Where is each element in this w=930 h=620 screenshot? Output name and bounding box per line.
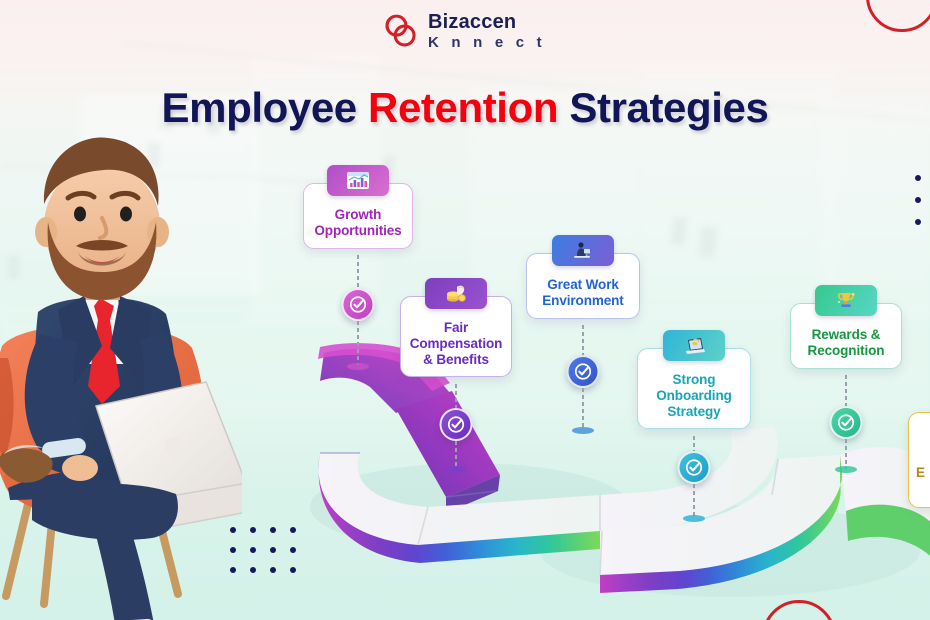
step-card-rewards[interactable]: Rewards & Recognition (790, 303, 902, 369)
check-circle-icon (447, 415, 466, 434)
step-stem-onboarding-lower (693, 484, 695, 518)
step-base-compensation (445, 466, 467, 473)
brand-name-secondary: K n n e c t (428, 35, 546, 50)
title-highlight: Retention (368, 84, 558, 131)
step-label-environment: Great Work Environment (535, 277, 631, 309)
check-circle-icon (837, 413, 856, 432)
step-stem-rewards-lower (845, 439, 847, 469)
step-stem-growth (357, 255, 359, 289)
check-circle-icon (349, 295, 368, 314)
laptop-handshake-icon (663, 330, 725, 361)
title-part-2: Strategies (558, 84, 768, 131)
roadmap-step-growth[interactable]: Growth Opportunities (303, 183, 413, 249)
step-base-growth (347, 363, 369, 370)
roadmap-step-rewards[interactable]: Rewards & Recognition (790, 303, 902, 369)
decor-dot-grid-right (915, 175, 930, 225)
step-stem-rewards (845, 375, 847, 407)
businessman-with-laptop-illustration (0, 96, 242, 620)
step-label-onboarding: Strong Onboarding Strategy (646, 372, 742, 419)
person-at-desk-icon (552, 235, 614, 266)
step-card-onboarding[interactable]: Strong Onboarding Strategy (637, 348, 751, 429)
step-check-rewards[interactable] (830, 406, 863, 439)
roadmap-step-onboarding[interactable]: Strong Onboarding Strategy (637, 348, 751, 429)
step-label-rewards: Rewards & Recognition (799, 327, 893, 359)
roadmap-step-compensation[interactable]: Fair Compensation & Benefits (400, 296, 512, 377)
step-label-compensation: Fair Compensation & Benefits (409, 320, 503, 367)
infographic-canvas: Bizaccen K n n e c t Employee Retention … (0, 0, 930, 620)
step-stem-environment (582, 325, 584, 357)
step-base-onboarding (683, 515, 705, 522)
step-stem-compensation (455, 384, 457, 410)
roadmap-step-environment[interactable]: Great Work Environment (526, 253, 640, 319)
roadmap-step-partial[interactable]: E (908, 412, 930, 508)
bar-chart-dashboard-icon (327, 165, 389, 196)
check-circle-icon (685, 458, 704, 477)
step-card-growth[interactable]: Growth Opportunities (303, 183, 413, 249)
money-coins-icon (425, 278, 487, 309)
step-card-compensation[interactable]: Fair Compensation & Benefits (400, 296, 512, 377)
step-check-environment[interactable] (567, 355, 600, 388)
step-stem-compensation-lower (455, 441, 457, 469)
brand-logo: Bizaccen K n n e c t (383, 12, 546, 50)
step-card-environment[interactable]: Great Work Environment (526, 253, 640, 319)
step-stem-environment-lower (582, 388, 584, 430)
step-base-rewards (835, 466, 857, 473)
trophy-icon (815, 285, 877, 316)
step-label-partial: E (916, 465, 925, 480)
interlocking-rings-icon (383, 13, 419, 49)
step-check-compensation[interactable] (440, 408, 473, 441)
brand-name-primary: Bizaccen (428, 12, 546, 32)
step-label-growth: Growth Opportunities (312, 207, 404, 239)
step-stem-growth-lower (357, 321, 359, 365)
step-check-growth[interactable] (342, 288, 375, 321)
step-check-onboarding[interactable] (678, 451, 711, 484)
step-base-environment (572, 427, 594, 434)
check-circle-icon (574, 362, 593, 381)
winding-3d-roadmap (300, 335, 930, 620)
